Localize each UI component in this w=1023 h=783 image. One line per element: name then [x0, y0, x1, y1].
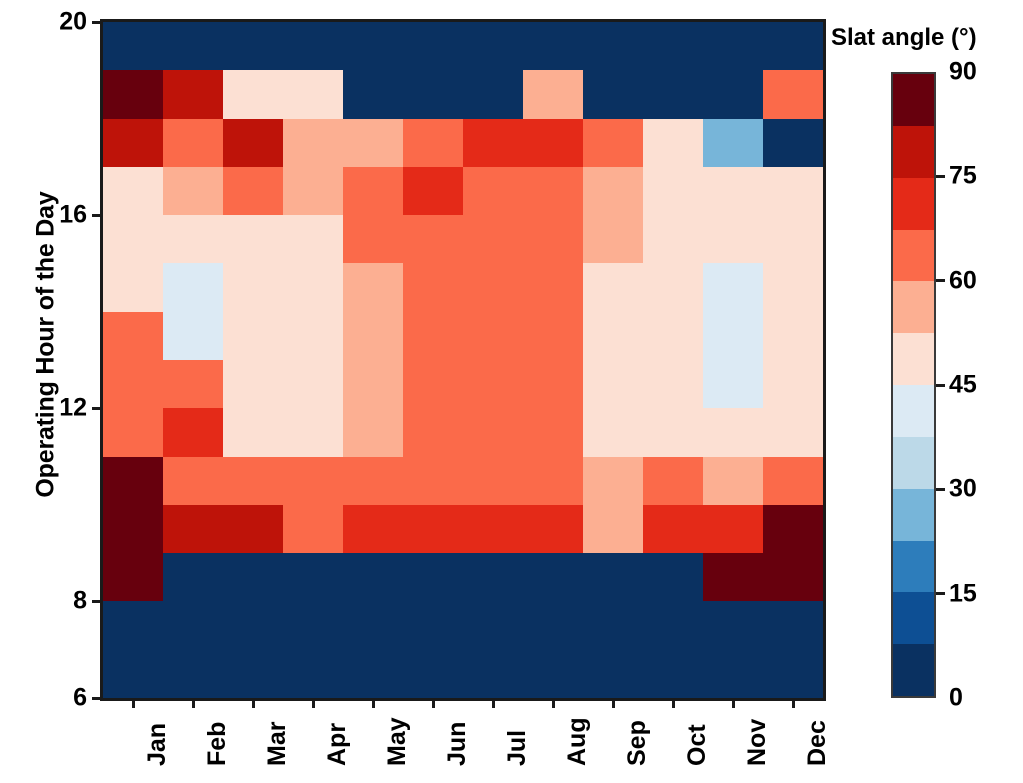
x-tick-label: Dec — [803, 720, 832, 766]
x-tick-label: May — [383, 717, 412, 766]
x-tick-label: Jun — [443, 722, 472, 766]
colorbar-band — [893, 385, 934, 437]
heatmap-cell — [643, 505, 703, 553]
colorbar-band — [893, 281, 934, 333]
heatmap-cell — [763, 70, 823, 118]
heatmap-cell — [223, 457, 283, 505]
heatmap-cell — [103, 408, 163, 456]
y-tick-label: 12 — [27, 394, 87, 423]
colorbar-tick-mark — [936, 384, 945, 387]
heatmap-cell — [703, 360, 763, 408]
x-tick-label: Aug — [563, 717, 592, 766]
heatmap-cell — [343, 312, 403, 360]
heatmap-cell — [343, 601, 403, 649]
colorbar-tick-label: 45 — [949, 371, 977, 400]
colorbar-title: Slat angle (°) — [831, 24, 977, 52]
heatmap-cell — [223, 408, 283, 456]
heatmap-cell — [703, 312, 763, 360]
heatmap-cell — [403, 408, 463, 456]
heatmap-cell — [223, 263, 283, 311]
heatmap-cell — [283, 457, 343, 505]
heatmap-cell — [223, 119, 283, 167]
x-tick-label: Feb — [203, 722, 232, 766]
y-tick-label: 20 — [27, 8, 87, 37]
heatmap-cell — [583, 601, 643, 649]
heatmap-cell — [463, 215, 523, 263]
heatmap-cell — [643, 553, 703, 601]
heatmap-cell — [643, 167, 703, 215]
x-tick-mark — [312, 698, 315, 708]
heatmap-cell — [583, 650, 643, 698]
heatmap-cell — [283, 505, 343, 553]
heatmap-cell — [523, 408, 583, 456]
heatmap-cell — [703, 457, 763, 505]
heatmap-cell — [763, 167, 823, 215]
heatmap-cell — [403, 553, 463, 601]
heatmap-cell — [703, 553, 763, 601]
heatmap-cell — [283, 650, 343, 698]
heatmap-cell — [403, 167, 463, 215]
heatmap-cell — [283, 215, 343, 263]
colorbar-tick-label: 30 — [949, 475, 977, 504]
heatmap-cell — [403, 360, 463, 408]
heatmap-cell — [283, 119, 343, 167]
colorbar-band — [893, 74, 934, 126]
heatmap-cell — [283, 70, 343, 118]
heatmap-cell — [343, 457, 403, 505]
heatmap-cell — [763, 215, 823, 263]
y-tick-label: 6 — [27, 684, 87, 713]
heatmap-cell — [163, 505, 223, 553]
x-tick-mark — [192, 698, 195, 708]
heatmap-cell — [223, 312, 283, 360]
colorbar-tick-label: 0 — [949, 684, 963, 713]
heatmap-cell — [643, 263, 703, 311]
heatmap-cell — [103, 457, 163, 505]
heatmap-cell — [283, 360, 343, 408]
heatmap-cell — [223, 601, 283, 649]
heatmap-cell — [163, 119, 223, 167]
x-tick-label: Sep — [623, 720, 652, 766]
x-tick-mark — [132, 698, 135, 708]
x-tick-mark — [492, 698, 495, 708]
heatmap-cell — [583, 553, 643, 601]
heatmap-cell — [583, 70, 643, 118]
heatmap-cell — [163, 408, 223, 456]
heatmap-cell — [523, 22, 583, 70]
heatmap-cell — [583, 167, 643, 215]
heatmap-cell — [283, 312, 343, 360]
heatmap-cell — [763, 312, 823, 360]
colorbar-band — [893, 644, 934, 696]
heatmap-cell — [703, 119, 763, 167]
heatmap-cell — [523, 263, 583, 311]
heatmap-cell — [403, 263, 463, 311]
heatmap-cell — [283, 601, 343, 649]
heatmap-cell — [523, 119, 583, 167]
heatmap-cell — [163, 70, 223, 118]
heatmap-cell — [463, 457, 523, 505]
heatmap-cell — [643, 119, 703, 167]
heatmap-cell — [763, 650, 823, 698]
y-tick-label: 8 — [27, 587, 87, 616]
heatmap-cell — [163, 360, 223, 408]
heatmap-cell — [583, 505, 643, 553]
colorbar-band — [893, 437, 934, 489]
heatmap-cell — [703, 167, 763, 215]
heatmap-cell — [343, 650, 403, 698]
heatmap-cell — [103, 215, 163, 263]
heatmap-cell — [463, 312, 523, 360]
heatmap-cell — [643, 650, 703, 698]
heatmap-cell — [343, 22, 403, 70]
x-tick-label: Nov — [743, 719, 772, 766]
heatmap-cell — [163, 22, 223, 70]
heatmap-cell — [103, 70, 163, 118]
heatmap-cell — [643, 408, 703, 456]
heatmap-cell — [103, 22, 163, 70]
heatmap-cell — [523, 553, 583, 601]
heatmap-cell — [763, 119, 823, 167]
heatmap-cell — [343, 505, 403, 553]
colorbar — [891, 72, 936, 698]
heatmap-cell — [643, 215, 703, 263]
heatmap-cell — [103, 312, 163, 360]
heatmap-cell — [163, 601, 223, 649]
heatmap-cell — [523, 360, 583, 408]
heatmap-cell — [763, 601, 823, 649]
heatmap-cell — [343, 553, 403, 601]
heatmap-cell — [643, 312, 703, 360]
heatmap-cell — [283, 263, 343, 311]
colorbar-tick-mark — [936, 592, 945, 595]
heatmap-cell — [583, 215, 643, 263]
heatmap-cell — [583, 263, 643, 311]
heatmap-cell — [583, 312, 643, 360]
heatmap-cell — [703, 505, 763, 553]
heatmap-cell — [703, 263, 763, 311]
heatmap-cell — [523, 505, 583, 553]
heatmap-cell — [163, 167, 223, 215]
x-tick-mark — [732, 698, 735, 708]
heatmap-cell — [463, 167, 523, 215]
heatmap-cell — [463, 601, 523, 649]
colorbar-tick-label: 75 — [949, 162, 977, 191]
heatmap-cell — [703, 215, 763, 263]
heatmap-cell — [403, 312, 463, 360]
heatmap-cell — [763, 22, 823, 70]
heatmap-cell — [163, 650, 223, 698]
heatmap-cell — [103, 505, 163, 553]
y-tick-label: 16 — [27, 201, 87, 230]
x-tick-label: Jan — [143, 723, 172, 766]
heatmap-cell — [523, 601, 583, 649]
heatmap-cell — [583, 408, 643, 456]
heatmap-cell — [763, 457, 823, 505]
colorbar-tick-mark — [936, 488, 945, 491]
heatmap-cell — [463, 408, 523, 456]
heatmap-cell — [103, 650, 163, 698]
x-tick-mark — [792, 698, 795, 708]
heatmap-cell — [523, 457, 583, 505]
colorbar-band — [893, 126, 934, 178]
heatmap-cell — [163, 457, 223, 505]
heatmap-cell — [463, 119, 523, 167]
heatmap-cell — [403, 22, 463, 70]
heatmap-cell — [523, 650, 583, 698]
heatmap-cell — [223, 360, 283, 408]
heatmap-cell — [763, 360, 823, 408]
heatmap-cell — [643, 601, 703, 649]
x-tick-mark — [252, 698, 255, 708]
heatmap-cell — [223, 505, 283, 553]
x-tick-label: Jul — [503, 730, 532, 766]
heatmap-cell — [103, 553, 163, 601]
heatmap-cell — [343, 215, 403, 263]
x-tick-mark — [552, 698, 555, 708]
heatmap-cell — [103, 167, 163, 215]
heatmap-cell — [763, 505, 823, 553]
colorbar-tick-label: 90 — [949, 58, 977, 87]
heatmap-cell — [403, 457, 463, 505]
colorbar-band — [893, 489, 934, 541]
heatmap-cell — [343, 263, 403, 311]
colorbar-band — [893, 333, 934, 385]
heatmap-cell — [583, 360, 643, 408]
heatmap-cell — [403, 601, 463, 649]
colorbar-tick-label: 60 — [949, 266, 977, 295]
heatmap-cell — [463, 650, 523, 698]
heatmap-cell — [343, 360, 403, 408]
heatmap-cell — [643, 70, 703, 118]
heatmap-cell — [583, 457, 643, 505]
heatmap-cell — [763, 553, 823, 601]
heatmap-cell — [403, 215, 463, 263]
heatmap-cell — [643, 457, 703, 505]
colorbar-band — [893, 230, 934, 282]
colorbar-tick-mark — [936, 175, 945, 178]
heatmap-cell — [283, 22, 343, 70]
heatmap-cell — [463, 70, 523, 118]
heatmap-cell — [523, 70, 583, 118]
heatmap-cell — [163, 215, 223, 263]
heatmap-cell — [583, 119, 643, 167]
heatmap-cell — [703, 601, 763, 649]
heatmap-cell — [403, 505, 463, 553]
heatmap-cell — [223, 22, 283, 70]
heatmap-cell — [343, 119, 403, 167]
colorbar-band — [893, 178, 934, 230]
heatmap-cell — [703, 650, 763, 698]
x-tick-label: Oct — [683, 724, 712, 766]
heatmap-cell — [103, 601, 163, 649]
heatmap-figure: Operating Hour of the Day 20161286 JanFe… — [0, 0, 1023, 783]
heatmap-cell — [283, 167, 343, 215]
x-tick-mark — [372, 698, 375, 708]
heatmap-cell — [343, 408, 403, 456]
heatmap-cell — [223, 167, 283, 215]
x-tick-label: Apr — [323, 723, 352, 766]
heatmap-cell — [223, 70, 283, 118]
x-tick-label: Mar — [263, 722, 292, 766]
heatmap-cell — [343, 167, 403, 215]
colorbar-band — [893, 592, 934, 644]
heatmap-cell — [763, 408, 823, 456]
heatmap-cell — [643, 22, 703, 70]
colorbar-tick-mark — [936, 279, 945, 282]
heatmap-cell — [103, 263, 163, 311]
heatmap-cell — [523, 215, 583, 263]
heatmap-cell — [223, 553, 283, 601]
heatmap-cell — [523, 167, 583, 215]
heatmap-cell — [643, 360, 703, 408]
heatmap-cell — [163, 312, 223, 360]
heatmap-cell — [703, 70, 763, 118]
heatmap-cell — [703, 408, 763, 456]
heatmap-cell — [523, 312, 583, 360]
heatmap-cell — [283, 408, 343, 456]
heatmap-cell — [223, 215, 283, 263]
heatmap-cell — [463, 505, 523, 553]
x-tick-mark — [432, 698, 435, 708]
x-tick-mark — [672, 698, 675, 708]
heatmap-cell — [463, 22, 523, 70]
heatmap-cell — [223, 650, 283, 698]
heatmap-cell — [163, 263, 223, 311]
heatmap-cell — [403, 119, 463, 167]
heatmap-grid — [103, 22, 823, 698]
heatmap-cell — [403, 70, 463, 118]
heatmap-cell — [103, 360, 163, 408]
heatmap-cell — [103, 119, 163, 167]
heatmap-cell — [703, 22, 763, 70]
x-tick-mark — [612, 698, 615, 708]
heatmap-cell — [343, 70, 403, 118]
heatmap-cell — [583, 22, 643, 70]
heatmap-cell — [463, 263, 523, 311]
heatmap-cell — [283, 553, 343, 601]
heatmap-cell — [763, 263, 823, 311]
heatmap-plot-area — [100, 19, 826, 701]
colorbar-tick-label: 15 — [949, 579, 977, 608]
heatmap-cell — [403, 650, 463, 698]
colorbar-band — [893, 541, 934, 593]
heatmap-cell — [163, 553, 223, 601]
heatmap-cell — [463, 360, 523, 408]
heatmap-cell — [463, 553, 523, 601]
